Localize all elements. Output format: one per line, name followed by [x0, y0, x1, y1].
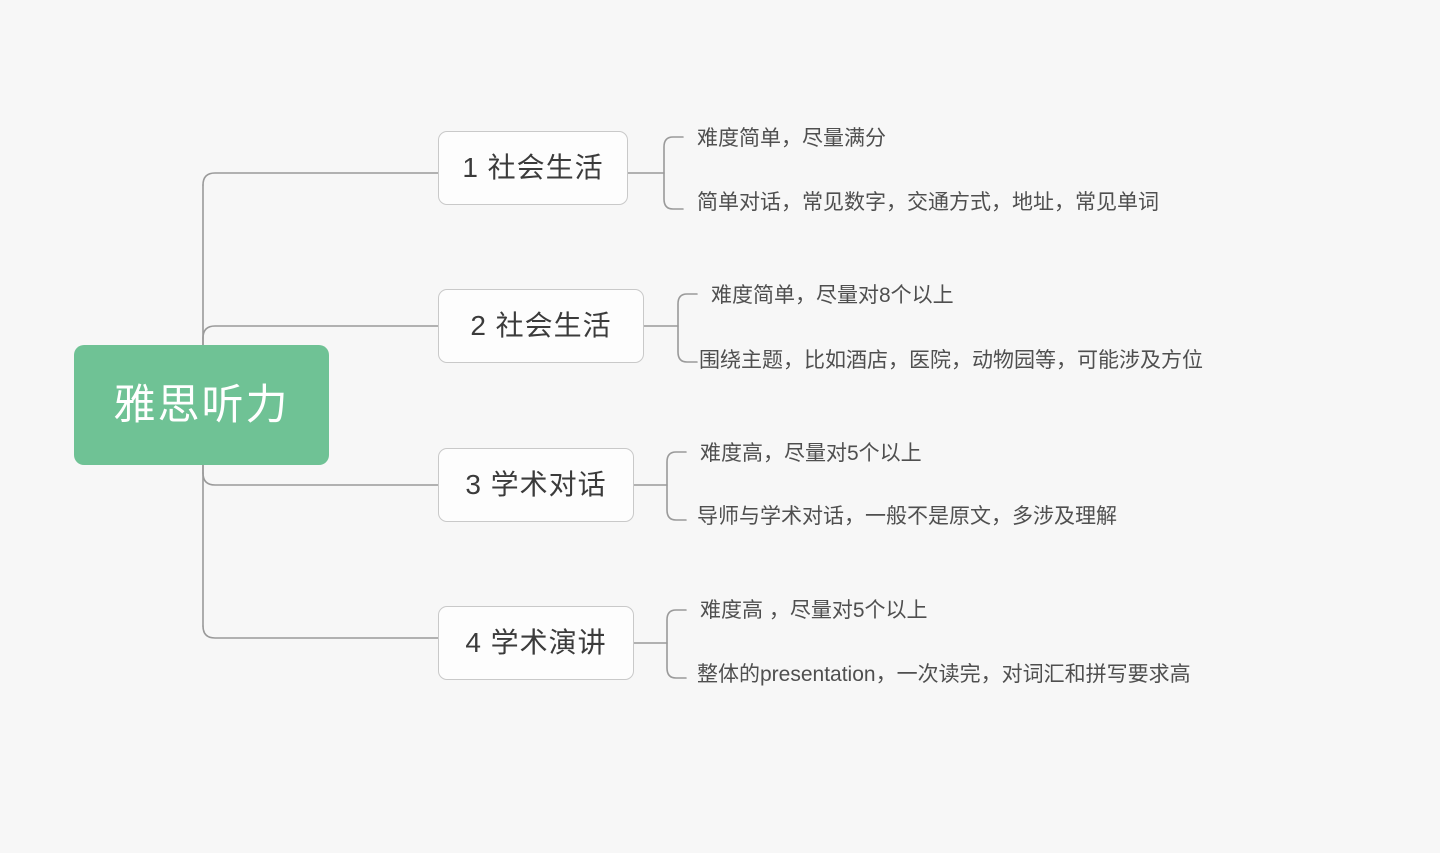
branch-node-2[interactable]: 2 社会生活: [438, 289, 644, 363]
leaf-node-4-2[interactable]: 整体的presentation，一次读完，对词汇和拼写要求高: [697, 664, 1191, 685]
branch-node-4[interactable]: 4 学术演讲: [438, 606, 634, 680]
leaf-node-1-1[interactable]: 难度简单，尽量满分: [697, 128, 886, 149]
branch-2-bracket: [678, 294, 697, 362]
leaf-node-3-2[interactable]: 导师与学术对话，一般不是原文，多涉及理解: [697, 506, 1117, 527]
branch-node-2-label: 2 社会生活: [470, 312, 611, 340]
root-node-label: 雅思听力: [113, 384, 289, 426]
branch-node-3-label: 3 学术对话: [465, 471, 606, 499]
leaf-node-4-1[interactable]: 难度高 ，尽量对5个以上: [700, 600, 928, 621]
root-node[interactable]: 雅思听力: [74, 345, 329, 465]
branch-3-bracket: [667, 452, 686, 520]
branch-node-1[interactable]: 1 社会生活: [438, 131, 628, 205]
leaf-node-3-1[interactable]: 难度高，尽量对5个以上: [700, 443, 922, 464]
root-to-branch-1: [203, 173, 438, 185]
mindmap-canvas: 雅思听力 1 社会生活 2 社会生活 3 学术对话 4 学术演讲 难度简单，尽量…: [0, 0, 1440, 853]
branch-node-4-label: 4 学术演讲: [465, 629, 606, 657]
branch-node-1-label: 1 社会生活: [462, 154, 603, 182]
branch-node-3[interactable]: 3 学术对话: [438, 448, 634, 522]
leaf-node-2-1[interactable]: 难度简单，尽量对8个以上: [711, 285, 954, 306]
leaf-node-2-2[interactable]: 围绕主题，比如酒店，医院，动物园等，可能涉及方位: [699, 350, 1203, 371]
branch-4-bracket: [667, 610, 686, 678]
root-to-branch-2: [203, 326, 438, 338]
root-to-branch-4: [203, 626, 438, 638]
leaf-node-1-2[interactable]: 简单对话，常见数字，交通方式，地址，常见单词: [697, 192, 1159, 213]
root-to-branch-3: [203, 473, 438, 485]
branch-1-bracket: [664, 137, 683, 209]
